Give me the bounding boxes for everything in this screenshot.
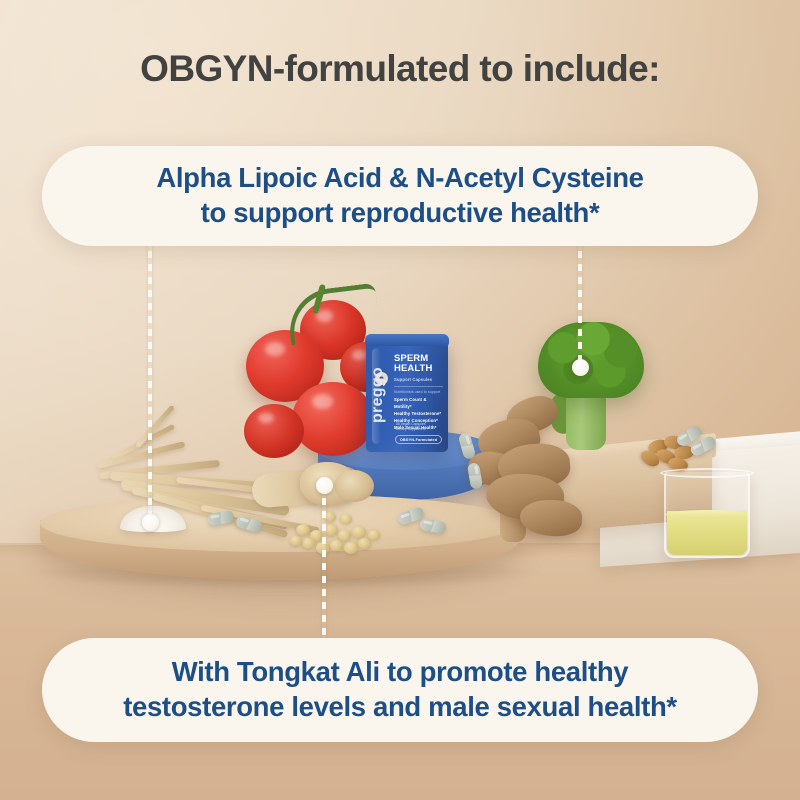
jar-lid [365,334,449,346]
callout-bottom-line1: With Tongkat Ali to promote healthy [123,655,677,690]
soybean [358,538,371,549]
tomato [292,382,374,456]
jar-title-line2: HEALTH [394,364,443,374]
jar-label-body: SPERM HEALTH Support Capsules Nutritioni… [394,354,443,432]
connector-line [322,485,326,645]
jar-lead-text: Nutritionists used to support [394,390,443,395]
jar-brand-name: preggo [369,367,387,423]
beaker-rim [660,468,754,478]
connector-alpha-lipoic-to-powder [148,238,152,523]
jar-subtitle: Support Capsules [394,377,443,382]
jar-supplement-line: Dietary Supplement [396,427,426,432]
soybean [344,542,358,554]
connector-endpoint-dot [572,359,589,376]
soybean [352,526,366,538]
connector-endpoint-dot [316,477,333,494]
soybean [330,540,343,551]
callout-card-top: Alpha Lipoic Acid & N-Acetyl Cysteine to… [42,146,758,246]
broccoli-head [538,322,644,398]
soybean [338,530,351,541]
jar-divider [394,386,443,387]
soybean [324,524,338,536]
callout-card-bottom: With Tongkat Ali to promote healthy test… [42,638,758,742]
callout-top-line1: Alpha Lipoic Acid & N-Acetyl Cysteine [156,161,643,196]
connector-nac-to-broccoli [578,238,582,368]
beaker-oil-surface [666,510,748,519]
connector-endpoint-dot [142,514,159,531]
jar-benefit-item: Sperm Count & Motility* [394,397,443,411]
soybean [340,514,352,524]
tomato-vine [285,283,381,346]
callout-bottom-line2: testosterone levels and male sexual heal… [123,690,677,725]
soybean [368,530,380,540]
connector-tongkat-ali-to-root [322,485,326,645]
soybean [296,524,310,536]
soybean [302,538,315,549]
jar-benefit-item: Healthy Testosterone* [394,411,443,418]
callout-bottom-text: With Tongkat Ali to promote healthy test… [89,655,711,724]
connector-line [578,238,582,368]
callout-top-text: Alpha Lipoic Acid & N-Acetyl Cysteine to… [122,161,677,230]
supplement-jar[interactable]: preggo SPERM HEALTH Support Capsules Nut… [366,340,448,452]
jar-capsule-count: 30 Vegan Capsules Dietary Supplement [396,422,426,432]
connector-line [148,238,152,523]
callout-top-line2: to support reproductive health* [156,196,643,231]
tomato [244,404,304,458]
soybean [290,536,302,546]
tongkat-ali-root-knob [334,470,374,502]
jar-obgyn-badge: OBGYN-Formulated [395,435,442,444]
